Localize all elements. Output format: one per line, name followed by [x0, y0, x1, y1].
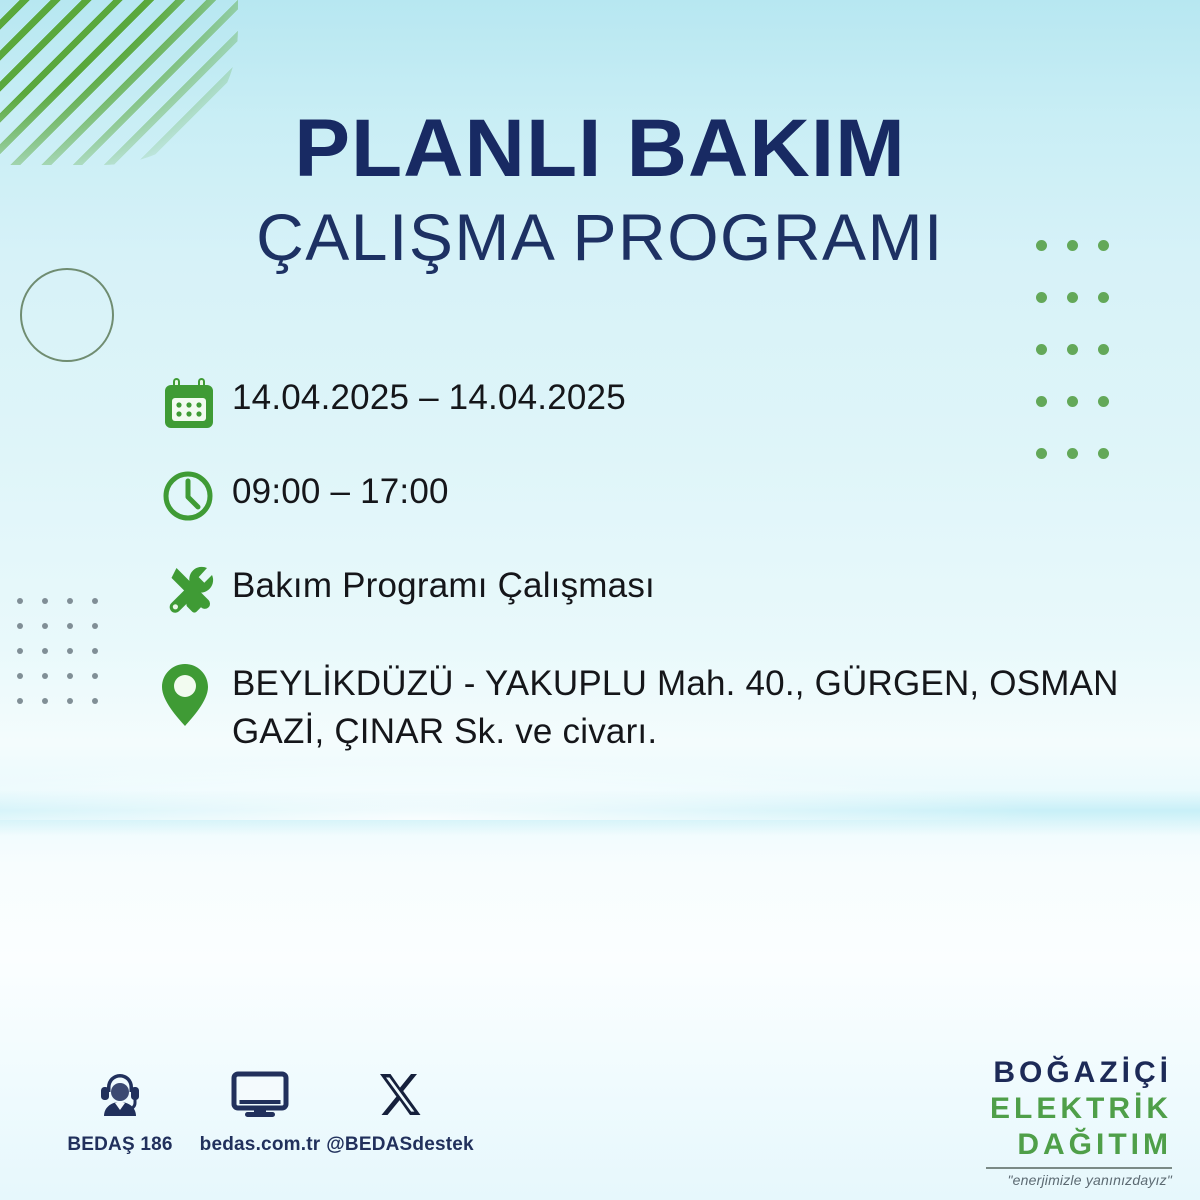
- location-value: BEYLİKDÜZÜ - YAKUPLU Mah. 40., GÜRGEN, O…: [232, 656, 1162, 757]
- logo-line-elektrik: ELEKTRİK: [986, 1094, 1172, 1124]
- work-type-value: Bakım Programı Çalışması: [232, 560, 655, 609]
- contact-x-label: @BEDASdestek: [326, 1134, 474, 1156]
- support-agent-icon: [94, 1060, 146, 1122]
- clock-icon: [160, 466, 232, 532]
- contact-phone-label: BEDAŞ 186: [67, 1134, 172, 1156]
- date-range-value: 14.04.2025 – 14.04.2025: [232, 372, 626, 421]
- contact-x-social[interactable]: @BEDASdestek: [330, 1060, 470, 1156]
- bedas-logo: BOĞAZİÇİ ELEKTRİK DAĞITIM "enerjimizle y…: [986, 1058, 1172, 1187]
- info-row-time: 09:00 – 17:00: [160, 466, 1170, 532]
- logo-line-bogazici: BOĞAZİÇİ: [986, 1058, 1172, 1088]
- poster-canvas: PLANLI BAKIM ÇALIŞMA PROGRAMI: [0, 0, 1200, 1200]
- poster-header: PLANLI BAKIM ÇALIŞMA PROGRAMI: [0, 108, 1200, 270]
- contact-website[interactable]: bedas.com.tr: [190, 1060, 330, 1156]
- contact-phone[interactable]: BEDAŞ 186: [50, 1060, 190, 1156]
- dot-grid-left-decoration: [17, 598, 117, 723]
- outage-info-list: 14.04.2025 – 14.04.2025 09:00 – 17:00: [160, 372, 1170, 781]
- logo-divider: [986, 1167, 1172, 1169]
- x-twitter-icon: [375, 1060, 425, 1122]
- time-range-value: 09:00 – 17:00: [232, 466, 449, 515]
- logo-line-dagitim: DAĞITIM: [986, 1130, 1172, 1160]
- info-row-work-type: Bakım Programı Çalışması: [160, 560, 1170, 626]
- page-subtitle: ÇALIŞMA PROGRAMI: [0, 204, 1200, 270]
- info-row-date: 14.04.2025 – 14.04.2025: [160, 372, 1170, 438]
- circle-outline-decoration: [20, 268, 114, 362]
- logo-slogan: "enerjimizle yanınızdayız": [986, 1173, 1172, 1187]
- calendar-icon: [160, 372, 232, 438]
- monitor-icon: [230, 1060, 290, 1122]
- contact-website-label: bedas.com.tr: [200, 1134, 321, 1156]
- info-row-location: BEYLİKDÜZÜ - YAKUPLU Mah. 40., GÜRGEN, O…: [160, 656, 1170, 757]
- page-title: PLANLI BAKIM: [0, 108, 1200, 190]
- background-haze-band: [0, 790, 1200, 836]
- tools-icon: [160, 560, 232, 626]
- footer-contacts: BEDAŞ 186 bedas.com.tr @BEDASdestek: [50, 1060, 490, 1156]
- location-pin-icon: [160, 656, 232, 726]
